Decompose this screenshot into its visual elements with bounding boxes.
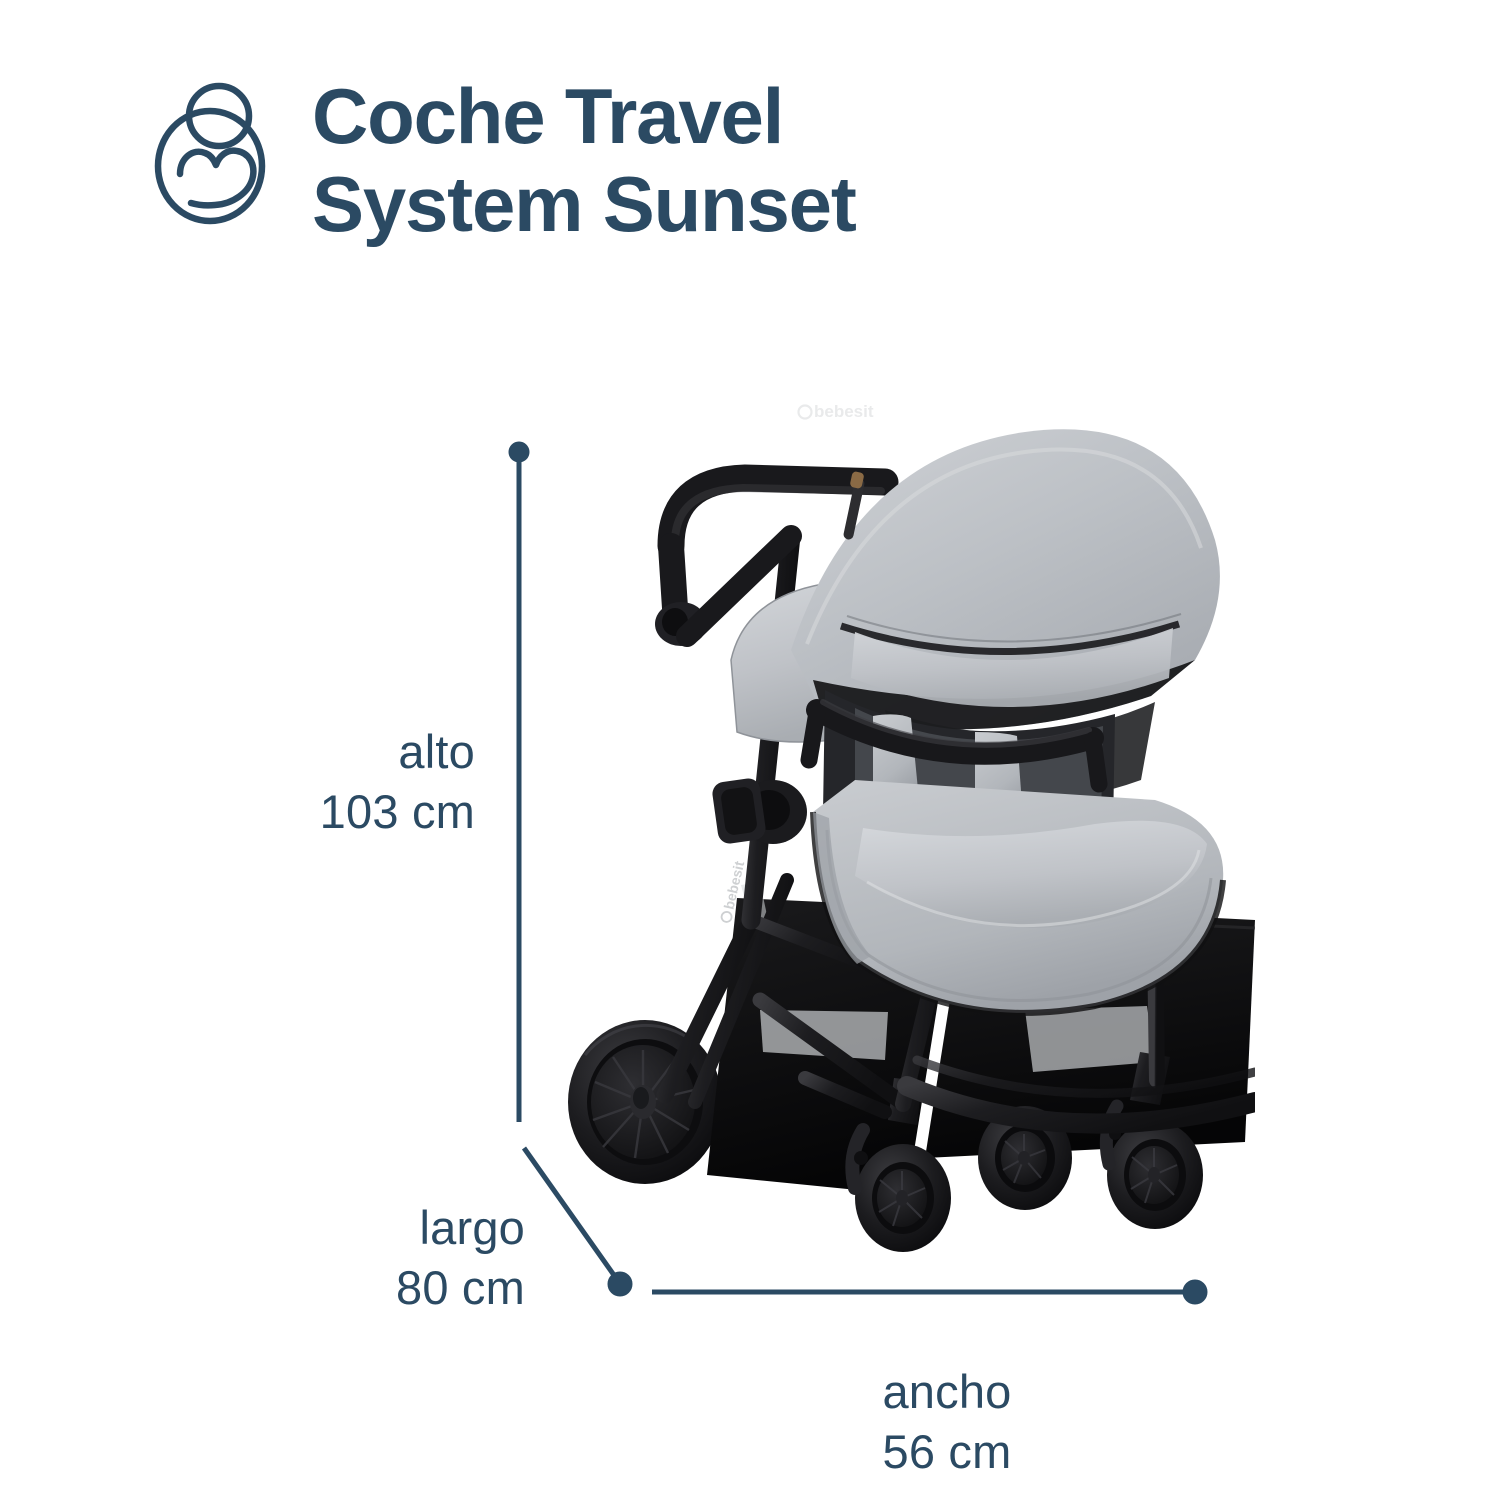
infographic-page: Coche Travel System Sunset xyxy=(0,0,1500,1500)
dimension-label-ancho: ancho 56 cm xyxy=(812,1362,1082,1482)
page-title: Coche Travel System Sunset xyxy=(312,70,856,248)
header: Coche Travel System Sunset xyxy=(150,70,856,248)
brand-logo-seat: bebesit xyxy=(799,402,874,421)
frame-hub xyxy=(711,777,807,845)
alto-endpoint-dot xyxy=(509,442,529,462)
dimension-label-largo: largo 80 cm xyxy=(396,1198,525,1318)
stroller-illustration: bebesit xyxy=(555,360,1255,1320)
dimension-label-alto: alto 103 cm xyxy=(320,722,475,842)
mother-and-baby-icon xyxy=(150,78,270,228)
svg-text:bebesit: bebesit xyxy=(814,402,874,421)
product-image: bebesit xyxy=(555,360,1255,1320)
